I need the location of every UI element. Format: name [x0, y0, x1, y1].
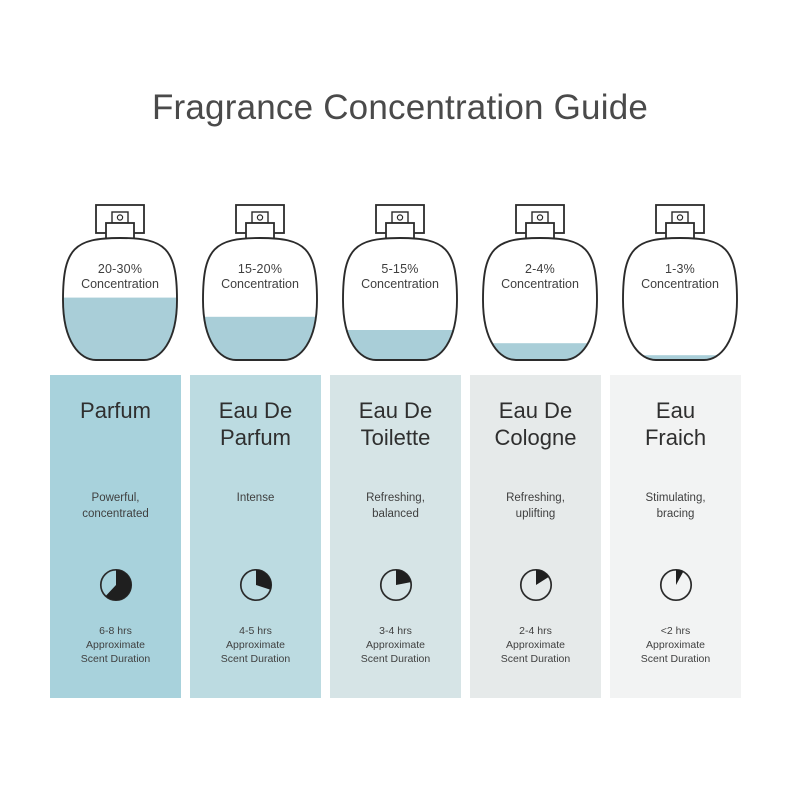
- duration-hours: 4-5 hrs: [190, 624, 321, 638]
- scent-duration-block: <2 hrsApproximateScent Duration: [610, 624, 741, 666]
- bottle-2: 15-20%Concentration: [190, 200, 330, 365]
- duration-hours: <2 hrs: [610, 624, 741, 638]
- duration-caption-line1: Approximate: [610, 638, 741, 652]
- panel-content: ParfumPowerful,concentrated6-8 hrsApprox…: [50, 375, 181, 698]
- category-name: Eau DeParfum: [190, 397, 321, 451]
- category-panel-5[interactable]: EauFraichStimulating,bracing<2 hrsApprox…: [610, 375, 741, 698]
- perfume-bottle-icon: [330, 200, 470, 365]
- category-panel-row: ParfumPowerful,concentrated6-8 hrsApprox…: [50, 375, 750, 698]
- category-description: Powerful,concentrated: [50, 490, 181, 522]
- category-name: Eau DeCologne: [470, 397, 601, 451]
- clock-icon-wrap: [99, 568, 133, 607]
- duration-caption-line1: Approximate: [470, 638, 601, 652]
- clock-icon-wrap: [519, 568, 553, 607]
- duration-caption-line2: Scent Duration: [50, 652, 181, 666]
- clock-icon-wrap: [239, 568, 273, 607]
- bottle-4: 2-4%Concentration: [470, 200, 610, 365]
- scent-duration-block: 2-4 hrsApproximateScent Duration: [470, 624, 601, 666]
- bottle-row: 20-30%Concentration15-20%Concentration5-…: [50, 200, 750, 365]
- panel-content: Eau DeToiletteRefreshing,balanced3-4 hrs…: [330, 375, 461, 698]
- panel-content: EauFraichStimulating,bracing<2 hrsApprox…: [610, 375, 741, 698]
- duration-hours: 3-4 hrs: [330, 624, 461, 638]
- perfume-bottle-icon: [190, 200, 330, 365]
- panel-content: Eau DeParfumIntense4-5 hrsApproximateSce…: [190, 375, 321, 698]
- duration-hours: 2-4 hrs: [470, 624, 601, 638]
- bottle-5: 1-3%Concentration: [610, 200, 750, 365]
- duration-caption-line1: Approximate: [50, 638, 181, 652]
- clock-duration-icon: [519, 568, 553, 602]
- scent-duration-block: 4-5 hrsApproximateScent Duration: [190, 624, 321, 666]
- clock-duration-icon: [659, 568, 693, 602]
- category-name: Parfum: [50, 397, 181, 424]
- bottle-1: 20-30%Concentration: [50, 200, 190, 365]
- duration-caption-line1: Approximate: [190, 638, 321, 652]
- category-panel-1[interactable]: ParfumPowerful,concentrated6-8 hrsApprox…: [50, 375, 181, 698]
- category-description: Stimulating,bracing: [610, 490, 741, 522]
- perfume-bottle-icon: [470, 200, 610, 365]
- duration-caption-line2: Scent Duration: [330, 652, 461, 666]
- perfume-bottle-icon: [50, 200, 190, 365]
- scent-duration-block: 3-4 hrsApproximateScent Duration: [330, 624, 461, 666]
- duration-caption-line2: Scent Duration: [470, 652, 601, 666]
- clock-icon-wrap: [379, 568, 413, 607]
- category-name: EauFraich: [610, 397, 741, 451]
- clock-icon-wrap: [659, 568, 693, 607]
- category-description: Intense: [190, 490, 321, 506]
- category-panel-3[interactable]: Eau DeToiletteRefreshing,balanced3-4 hrs…: [330, 375, 461, 698]
- scent-duration-block: 6-8 hrsApproximateScent Duration: [50, 624, 181, 666]
- category-name: Eau DeToilette: [330, 397, 461, 451]
- duration-caption-line2: Scent Duration: [610, 652, 741, 666]
- clock-duration-icon: [379, 568, 413, 602]
- clock-duration-icon: [99, 568, 133, 602]
- category-panel-4[interactable]: Eau DeCologneRefreshing,uplifting2-4 hrs…: [470, 375, 601, 698]
- category-panel-2[interactable]: Eau DeParfumIntense4-5 hrsApproximateSce…: [190, 375, 321, 698]
- bottle-3: 5-15%Concentration: [330, 200, 470, 365]
- panel-content: Eau DeCologneRefreshing,uplifting2-4 hrs…: [470, 375, 601, 698]
- clock-duration-icon: [239, 568, 273, 602]
- duration-caption-line1: Approximate: [330, 638, 461, 652]
- duration-caption-line2: Scent Duration: [190, 652, 321, 666]
- category-description: Refreshing,uplifting: [470, 490, 601, 522]
- category-description: Refreshing,balanced: [330, 490, 461, 522]
- perfume-bottle-icon: [610, 200, 750, 365]
- fragrance-concentration-infographic: Fragrance Concentration Guide 20-30%Conc…: [0, 0, 800, 800]
- page-title: Fragrance Concentration Guide: [0, 88, 800, 128]
- duration-hours: 6-8 hrs: [50, 624, 181, 638]
